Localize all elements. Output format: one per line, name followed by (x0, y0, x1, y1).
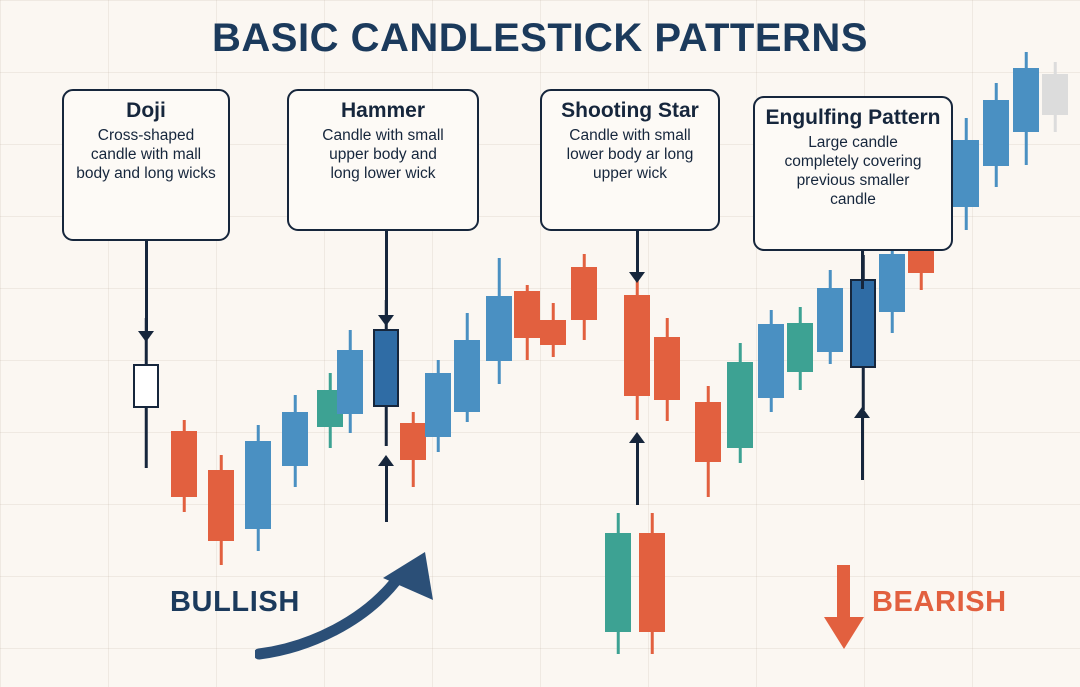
leader-line-engulfing-top (861, 251, 864, 289)
candle-red-floating (639, 513, 665, 654)
arrow-down-icon-doji (138, 331, 154, 342)
leader-line-hammer-bottom (385, 466, 388, 522)
leader-line-shooting-star-top (636, 231, 639, 274)
candle-body (817, 288, 843, 352)
callout-doji-line-2: candle with mall (70, 145, 222, 164)
leader-line-hammer-top (385, 231, 388, 317)
arrow-down-icon-shooting-star (629, 272, 645, 283)
candle-blue (282, 395, 308, 487)
candle-body (282, 412, 308, 466)
candle-red (400, 412, 426, 487)
candle-body (787, 323, 813, 372)
shooting-star-candle (624, 279, 650, 420)
callout-engulfing-title: Engulfing Pattern (761, 106, 945, 130)
candle-red (171, 420, 197, 512)
candle-red (571, 254, 597, 340)
candle-body (373, 329, 399, 407)
candle-body (727, 362, 753, 448)
candle-blue (245, 425, 271, 551)
arrow-down-icon-hammer (378, 315, 394, 326)
candle-body (337, 350, 363, 414)
candle-body (133, 364, 159, 408)
candle-blue (758, 310, 784, 412)
candle-blue (425, 360, 451, 452)
candle-body (400, 423, 426, 460)
arrow-up-icon-shooting-star (629, 432, 645, 443)
callout-doji-desc: Cross-shaped candle with mall body and l… (70, 126, 222, 184)
page-title: BASIC CANDLESTICK PATTERNS (0, 16, 1080, 61)
candle-body (454, 340, 480, 412)
callout-hammer-title: Hammer (295, 99, 471, 123)
candle-red (514, 285, 540, 360)
candle-body (1042, 74, 1068, 115)
callout-shooting-star-line-3: upper wick (548, 164, 712, 183)
candle-red (695, 386, 721, 497)
callout-shooting-star-line-2: lower body ar long (548, 145, 712, 164)
callout-hammer-line-2: upper body and (295, 145, 471, 164)
arrow-up-icon-hammer (378, 455, 394, 466)
candle-body (514, 291, 540, 338)
callout-hammer-line-3: long lower wick (295, 164, 471, 183)
callout-doji-line-1: Cross-shaped (70, 126, 222, 145)
candle-body (908, 248, 934, 273)
callout-engulfing-pattern[interactable]: Engulfing Pattern Large candle completel… (753, 96, 953, 251)
bullish-arrow-icon (255, 548, 445, 660)
callout-engulfing-line-1: Large candle (761, 133, 945, 152)
callout-shooting-star-title: Shooting Star (548, 99, 712, 123)
candle-body (850, 279, 876, 368)
callout-hammer-desc: Candle with small upper body and long lo… (295, 126, 471, 184)
callout-hammer[interactable]: Hammer Candle with small upper body and … (287, 89, 479, 231)
candle-gray (1042, 62, 1068, 132)
callout-shooting-star-line-1: Candle with small (548, 126, 712, 145)
candle-blue (817, 270, 843, 364)
callout-engulfing-line-2: completely covering (761, 152, 945, 171)
candle-blue (879, 245, 905, 333)
candle-teal-floating (605, 513, 631, 654)
callout-doji[interactable]: Doji Cross-shaped candle with mall body … (62, 89, 230, 241)
candle-blue (1013, 52, 1039, 165)
candle-teal (727, 343, 753, 463)
candle-body (1013, 68, 1039, 132)
callout-engulfing-line-4: candle (761, 190, 945, 209)
candle-body (605, 533, 631, 632)
candle-body (879, 254, 905, 312)
callout-shooting-star-desc: Candle with small lower body ar long upp… (548, 126, 712, 184)
candle-red (540, 303, 566, 357)
candle-body (171, 431, 197, 497)
candle-red (208, 455, 234, 565)
candle-body (983, 100, 1009, 166)
candle-body (208, 470, 234, 541)
candle-body (695, 402, 721, 462)
callout-hammer-line-1: Candle with small (295, 126, 471, 145)
leader-line-doji (145, 241, 148, 333)
callout-shooting-star[interactable]: Shooting Star Candle with small lower bo… (540, 89, 720, 231)
candle-blue (486, 258, 512, 384)
bearish-arrow-icon (818, 565, 870, 651)
arrow-up-icon-engulfing (854, 407, 870, 418)
candle-body (425, 373, 451, 437)
candle-teal (787, 307, 813, 390)
bearish-label: BEARISH (872, 586, 1007, 619)
candle-body (624, 295, 650, 396)
candle-blue (953, 118, 979, 230)
infographic-canvas: BASIC CANDLESTICK PATTERNS Doji Cross-sh… (0, 0, 1080, 687)
callout-engulfing-line-3: previous smaller (761, 171, 945, 190)
callout-engulfing-desc: Large candle completely covering previou… (761, 133, 945, 210)
leader-line-shooting-star-bottom (636, 443, 639, 505)
candle-body (245, 441, 271, 529)
candle-body (654, 337, 680, 400)
candle-body (758, 324, 784, 398)
candle-blue (337, 330, 363, 433)
candle-red (654, 318, 680, 421)
candle-body (953, 140, 979, 207)
leader-line-engulfing-bottom (861, 418, 864, 480)
candle-body (639, 533, 665, 632)
candle-body (486, 296, 512, 361)
callout-doji-title: Doji (70, 99, 222, 123)
candle-body (540, 320, 566, 345)
candle-blue (983, 83, 1009, 187)
callout-doji-line-3: body and long wicks (70, 164, 222, 183)
candle-body (571, 267, 597, 320)
candle-blue (454, 313, 480, 422)
